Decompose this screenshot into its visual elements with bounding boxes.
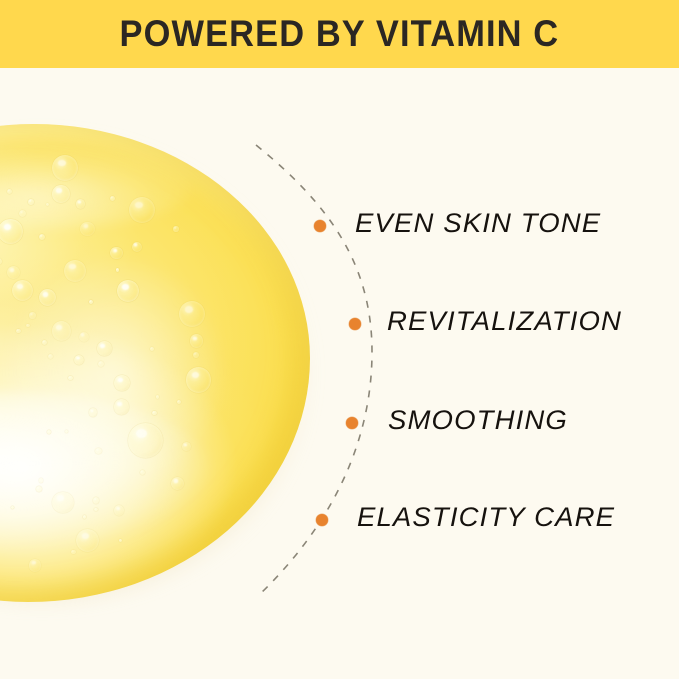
gel-bubble [39,234,45,240]
gel-bubble [52,185,70,203]
benefit-item-3: ELASTICITY CARE [357,502,615,533]
benefit-item-2: SMOOTHING [388,405,568,436]
gel-bubble [128,423,164,459]
gel-drop-top-highlight [0,148,191,229]
gel-bubble [42,340,48,346]
gel-bubble [74,355,84,365]
gel-drop-gloss-lower [0,392,212,555]
infographic-canvas: POWERED BY VITAMIN C EVEN SKIN TONEREVIT… [0,0,679,679]
gel-bubble [177,400,181,404]
benefit-bullet-icon [314,220,326,232]
gel-drop-illustration [0,124,310,602]
gel-bubble [29,312,35,318]
gel-bubble [26,324,29,327]
gel-drop-gloss-upper [6,258,223,487]
gel-bubble [28,199,33,204]
gel-bubble [7,189,13,195]
gel-bubble [0,219,23,244]
gel-bubble [110,247,123,260]
benefit-bullet-icon [346,417,358,429]
gel-bubble [129,197,155,223]
gel-bubble [0,258,2,265]
benefit-item-1: REVITALIZATION [387,306,622,337]
gel-bubble [64,260,86,282]
gel-bubble [150,347,154,351]
gel-bubble [29,559,42,572]
gel-bubble [89,300,93,304]
gel-bubble [95,448,102,455]
gel-bubble [171,477,184,490]
gel-bubble [71,550,76,555]
gel-bubble [39,289,56,306]
gel-bubble [114,505,124,515]
gel-bubble [16,329,20,333]
gel-bubble [48,354,53,359]
gel-bubble [110,196,115,201]
page-title: POWERED BY VITAMIN C [120,13,560,55]
gel-bubble [186,367,211,392]
gel-bubble [65,430,69,434]
gel-bubble [114,399,130,415]
header-banner: POWERED BY VITAMIN C [0,0,679,68]
gel-bubble [93,497,99,503]
gel-bubble [52,321,71,340]
gel-bubble [7,266,20,279]
gel-bubble [117,280,139,302]
gel-bubble [179,301,205,327]
gel-drop-body [0,124,310,602]
gel-bubble [47,430,51,434]
gel-bubble [68,376,72,380]
gel-bubble [76,529,99,552]
gel-bubble [39,478,43,482]
gel-bubble [193,352,199,358]
benefit-item-0: EVEN SKIN TONE [355,208,601,239]
gel-bubble [190,334,204,348]
gel-drop-shadow [0,134,310,602]
gel-bubble [52,492,73,513]
gel-bubble [132,242,142,252]
gel-bubble [156,395,160,399]
gel-bubble [119,539,122,542]
gel-bubble [46,203,49,206]
gel-bubble [140,470,146,476]
gel-bubble [76,199,85,208]
gel-bubble [19,210,26,217]
gel-bubble [94,508,97,511]
dashed-arc-svg [0,0,679,679]
gel-bubble [12,280,33,301]
gel-bubble [36,486,42,492]
gel-bubble [182,442,191,451]
gel-bubble [97,341,112,356]
gel-bubble [52,155,78,181]
gel-bubble [79,332,89,342]
gel-bubble [80,222,94,236]
gel-bubble [114,375,130,391]
gel-bubble [116,268,120,272]
benefit-bullet-icon [316,514,328,526]
gel-bubble [89,408,98,417]
gel-bubble [83,515,86,518]
benefit-bullet-icon [349,318,361,330]
gel-bubble [98,361,104,367]
gel-bubble [152,411,156,415]
gel-drop-rim [0,124,310,602]
gel-bubble [173,226,178,231]
gel-bubble [11,506,14,509]
